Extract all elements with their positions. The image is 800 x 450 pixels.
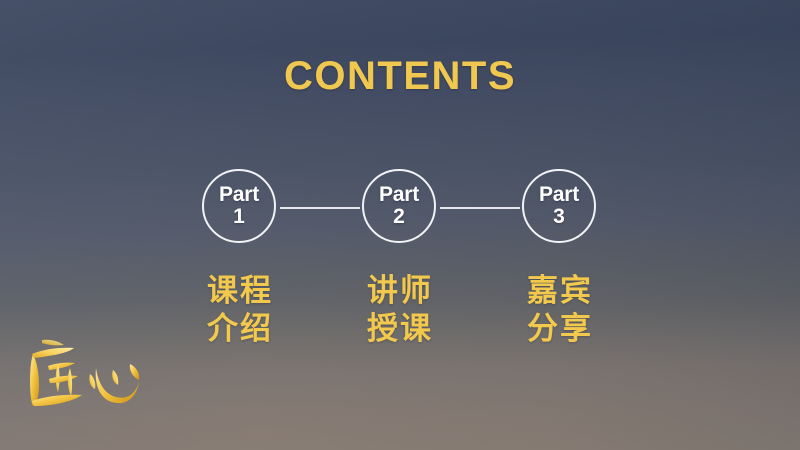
caption-line-2: 介绍	[160, 310, 320, 348]
section-caption-part-2[interactable]: 讲师 授课	[320, 272, 480, 348]
section-caption-part-1[interactable]: 课程 介绍	[160, 272, 320, 348]
caption-line-1: 嘉宾	[480, 272, 640, 310]
flow-node-number: 2	[393, 205, 405, 229]
connector-line-part1-part2	[280, 207, 360, 209]
presentation-slide: CONTENTS Part 1 Part 2 Part 3 课程 介绍 讲师 授…	[0, 0, 800, 450]
caption-line-2: 授课	[320, 310, 480, 348]
caption-line-1: 讲师	[320, 272, 480, 310]
flow-node-part-1[interactable]: Part 1	[202, 169, 276, 243]
caption-line-2: 分享	[480, 310, 640, 348]
flow-node-part-3[interactable]: Part 3	[522, 169, 596, 243]
flow-node-part-2[interactable]: Part 2	[362, 169, 436, 243]
calligraphy-icon	[18, 338, 148, 420]
brand-logo-calligraphy	[18, 338, 148, 420]
flow-node-label: Part	[379, 184, 419, 205]
connector-line-part2-part3	[440, 207, 520, 209]
page-title: CONTENTS	[0, 54, 800, 99]
contents-flow-diagram: Part 1 Part 2 Part 3	[0, 169, 800, 249]
flow-node-number: 3	[553, 205, 565, 229]
flow-node-label: Part	[539, 184, 579, 205]
flow-node-label: Part	[219, 184, 259, 205]
caption-line-1: 课程	[160, 272, 320, 310]
section-caption-part-3[interactable]: 嘉宾 分享	[480, 272, 640, 348]
flow-node-number: 1	[233, 205, 245, 229]
